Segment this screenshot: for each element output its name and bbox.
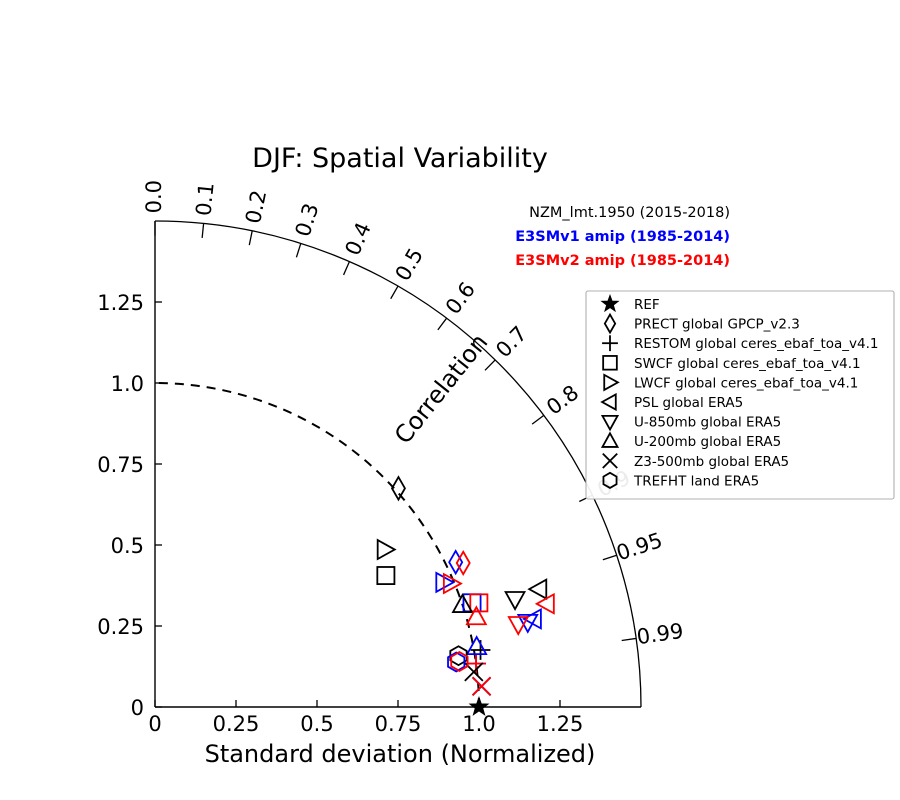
plot-frame <box>155 221 641 707</box>
correlation-tick <box>344 262 350 275</box>
x-axis-tick-label: 1.25 <box>537 712 584 736</box>
y-axis: 00.250.50.751.01.25 <box>97 291 162 720</box>
legend-item-label: LWCF global ceres_ebaf_toa_v4.1 <box>634 375 858 391</box>
legend-item[interactable]: SWCF global ceres_ebaf_toa_v4.1 <box>603 356 860 372</box>
correlation-tick <box>202 223 203 238</box>
legend-item-label: Z3-500mb global ERA5 <box>634 454 789 470</box>
dataset-legend: NZM_lmt.1950 (2015-2018)E3SMv1 amip (198… <box>515 205 730 269</box>
x-axis-tick-label: 0.75 <box>375 712 422 736</box>
correlation-tick-label: 0.7 <box>491 322 532 363</box>
taylor-diagram-canvas: 0.00.10.20.30.40.50.60.70.80.90.950.99Co… <box>0 0 900 800</box>
y-axis-tick-label: 1.25 <box>97 291 144 315</box>
correlation-tick <box>485 360 495 370</box>
correlation-tick <box>622 638 636 640</box>
correlation-tick-label: 0.5 <box>391 244 428 285</box>
legend-item-label: SWCF global ceres_ebaf_toa_v4.1 <box>634 356 861 372</box>
correlation-tick-label: 0.3 <box>291 200 324 239</box>
data-point <box>453 595 472 612</box>
correlation-tick <box>249 231 252 245</box>
legend-item[interactable]: RESTOM global ceres_ebaf_toa_v4.1 <box>602 335 878 352</box>
correlation-tick-label: 0.6 <box>441 278 480 319</box>
correlation-tick-label: 0.4 <box>341 219 376 259</box>
legend-item-label: U-850mb global ERA5 <box>634 415 781 431</box>
x-axis-tick-label: 0.5 <box>300 712 333 736</box>
dataset-legend-item: E3SMv1 amip (1985-2014) <box>515 229 730 245</box>
y-axis-tick-label: 0.75 <box>97 453 144 477</box>
legend-item[interactable]: PRECT global GPCP_v2.3 <box>605 315 800 333</box>
data-point <box>377 567 394 584</box>
correlation-tick <box>296 243 300 257</box>
legend-item-label: U-200mb global ERA5 <box>634 434 781 450</box>
marker-legend: REFPRECT global GPCP_v2.3RESTOM global c… <box>586 291 894 499</box>
correlation-tick-label: 0.95 <box>614 528 666 565</box>
correlation-tick-label: 0.99 <box>635 619 685 649</box>
x-axis-tick-label: 1.0 <box>462 712 495 736</box>
x-axis-tick-label: 0 <box>148 712 161 736</box>
taylor-diagram-figure: 0.00.10.20.30.40.50.60.70.80.90.950.99Co… <box>0 0 900 800</box>
data-points <box>377 477 554 714</box>
outer-boundary-arc <box>155 221 641 707</box>
correlation-tick-label: 0.8 <box>542 380 583 419</box>
correlation-tick <box>532 415 544 424</box>
legend-item-label: PRECT global GPCP_v2.3 <box>634 317 800 333</box>
data-point <box>470 594 487 611</box>
x-axis-tick-label: 0.25 <box>213 712 260 736</box>
y-axis-tick-label: 0 <box>131 696 144 720</box>
data-point <box>467 637 486 654</box>
x-axis: 00.250.50.751.01.25 <box>148 700 583 736</box>
data-point <box>506 592 525 609</box>
correlation-tick <box>603 555 617 560</box>
legend-item-label: PSL global ERA5 <box>634 395 743 411</box>
legend-item-label: TREFHT land ERA5 <box>633 473 759 489</box>
data-point <box>529 580 546 599</box>
y-axis-tick-label: 1.0 <box>111 372 144 396</box>
reference-stddev-arc <box>155 383 479 707</box>
legend-item-label: RESTOM global ceres_ebaf_toa_v4.1 <box>634 336 879 352</box>
correlation-tick-label: 0.2 <box>241 188 271 226</box>
data-point <box>378 540 395 559</box>
y-axis-tick-label: 0.25 <box>97 615 144 639</box>
legend-item-label: REF <box>634 297 660 313</box>
correlation-axis-label: Correlation <box>389 328 494 449</box>
correlation-tick <box>438 318 447 330</box>
legend-item[interactable]: LWCF global ceres_ebaf_toa_v4.1 <box>604 375 858 392</box>
correlation-tick <box>391 286 398 299</box>
correlation-tick-label: 0.1 <box>191 181 218 217</box>
correlation-tick-label: 0.0 <box>142 180 166 213</box>
y-axis-tick-label: 0.5 <box>111 534 144 558</box>
x-axis-label: Standard deviation (Normalized) <box>205 740 596 768</box>
dataset-legend-item: NZM_lmt.1950 (2015-2018) <box>529 205 730 221</box>
dataset-legend-item: E3SMv2 amip (1985-2014) <box>515 253 730 269</box>
plot-arcs <box>155 221 641 707</box>
page-title: DJF: Spatial Variability <box>252 143 548 174</box>
